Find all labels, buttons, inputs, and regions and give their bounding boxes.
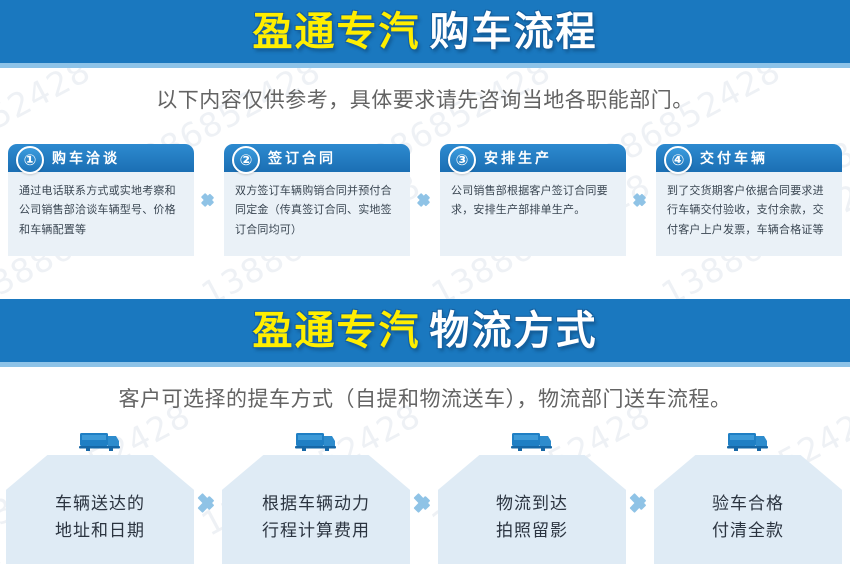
step-header-3: ③ 安排生产 xyxy=(440,144,626,172)
banner-purchase-inner: 盈通专汽 购车流程 xyxy=(253,12,598,52)
logistics-arrow-3 xyxy=(626,455,654,564)
banner-brand-text: 盈通专汽 xyxy=(253,311,421,351)
step-arrow-1 xyxy=(194,144,224,256)
truck-icon xyxy=(509,430,555,453)
step-body-3: 公司销售部根据客户签订合同要求，安排生产部排单生产。 xyxy=(440,172,626,256)
truck-icon xyxy=(293,430,339,453)
logistics-line2-4: 付清全款 xyxy=(712,518,784,544)
logistics-subtitle: 客户可选择的提车方式（自提和物流送车），物流部门送车流程。 xyxy=(0,383,850,413)
logistics-shape-2: 根据车辆动力 行程计算费用 xyxy=(222,455,410,564)
step-body-4: 到了交货期客户依据合同要求进行车辆交付验收，支付余款，交付客户上户发票，车辆合格… xyxy=(656,172,842,256)
logistics-arrow-1 xyxy=(194,455,222,564)
step-title-2: 签订合同 xyxy=(268,148,336,168)
step-title-3: 安排生产 xyxy=(484,148,552,168)
step-card-3[interactable]: ③ 安排生产 公司销售部根据客户签订合同要求，安排生产部排单生产。 xyxy=(440,144,626,256)
truck-icon xyxy=(77,430,123,453)
step-title-1: 购车洽谈 xyxy=(52,148,120,168)
purchase-subtitle: 以下内容仅供参考，具体要求请先咨询当地各职能部门。 xyxy=(0,84,850,114)
chevron-right-icon xyxy=(415,488,433,518)
step-number-badge-3: ③ xyxy=(448,146,476,174)
logistics-item-4[interactable]: 验车合格 付清全款 xyxy=(654,430,842,564)
chevron-right-icon xyxy=(199,488,217,518)
chevron-right-icon xyxy=(634,189,648,211)
step-arrow-3 xyxy=(626,144,656,256)
banner-logistics-inner: 盈通专汽 物流方式 xyxy=(253,311,598,351)
step-number-badge-1: ① xyxy=(16,146,44,174)
step-body-2: 双方签订车辆购销合同并预付合同定金（传真签订合同、实地签订合同均可） xyxy=(224,172,410,256)
step-card-4[interactable]: ④ 交付车辆 到了交货期客户依据合同要求进行车辆交付验收，支付余款，交付客户上户… xyxy=(656,144,842,256)
step-body-1: 通过电话联系方式或实地考察和公司销售部洽谈车辆型号、价格和车辆配置等 xyxy=(8,172,194,256)
logistics-line2-1: 地址和日期 xyxy=(55,518,145,544)
logistics-line1-2: 根据车辆动力 xyxy=(262,491,370,517)
step-header-1: ① 购车洽谈 xyxy=(8,144,194,172)
step-number-badge-2: ② xyxy=(232,146,260,174)
step-number-badge-4: ④ xyxy=(664,146,692,174)
logistics-arrow-2 xyxy=(410,455,438,564)
chevron-right-icon xyxy=(418,189,432,211)
logistics-line1-3: 物流到达 xyxy=(496,491,568,517)
logistics-line2-2: 行程计算费用 xyxy=(262,518,370,544)
banner-purchase-process: 盈通专汽 购车流程 xyxy=(0,0,850,68)
logistics-steps-row: 车辆送达的 地址和日期 根据车辆动力 行程计算费用 xyxy=(6,430,844,564)
logistics-shape-4: 验车合格 付清全款 xyxy=(654,455,842,564)
step-card-1[interactable]: ① 购车洽谈 通过电话联系方式或实地考察和公司销售部洽谈车辆型号、价格和车辆配置… xyxy=(8,144,194,256)
logistics-line1-1: 车辆送达的 xyxy=(55,491,145,517)
step-header-2: ② 签订合同 xyxy=(224,144,410,172)
step-header-4: ④ 交付车辆 xyxy=(656,144,842,172)
purchase-steps-row: ① 购车洽谈 通过电话联系方式或实地考察和公司销售部洽谈车辆型号、价格和车辆配置… xyxy=(8,144,842,256)
banner-brand-text: 盈通专汽 xyxy=(253,12,421,52)
chevron-right-icon xyxy=(202,189,216,211)
truck-icon xyxy=(725,430,771,453)
step-arrow-2 xyxy=(410,144,440,256)
logistics-item-3[interactable]: 物流到达 拍照留影 xyxy=(438,430,626,564)
logistics-item-2[interactable]: 根据车辆动力 行程计算费用 xyxy=(222,430,410,564)
logistics-line2-3: 拍照留影 xyxy=(496,518,568,544)
banner-title-text: 物流方式 xyxy=(430,311,598,351)
chevron-right-icon xyxy=(631,488,649,518)
step-title-4: 交付车辆 xyxy=(700,148,768,168)
logistics-item-1[interactable]: 车辆送达的 地址和日期 xyxy=(6,430,194,564)
logistics-shape-1: 车辆送达的 地址和日期 xyxy=(6,455,194,564)
logistics-line1-4: 验车合格 xyxy=(712,491,784,517)
logistics-shape-3: 物流到达 拍照留影 xyxy=(438,455,626,564)
banner-logistics-method: 盈通专汽 物流方式 xyxy=(0,299,850,367)
banner-title-text: 购车流程 xyxy=(430,12,598,52)
infographic-page: 1388685242813886852428138868524281388685… xyxy=(0,0,850,564)
step-card-2[interactable]: ② 签订合同 双方签订车辆购销合同并预付合同定金（传真签订合同、实地签订合同均可… xyxy=(224,144,410,256)
